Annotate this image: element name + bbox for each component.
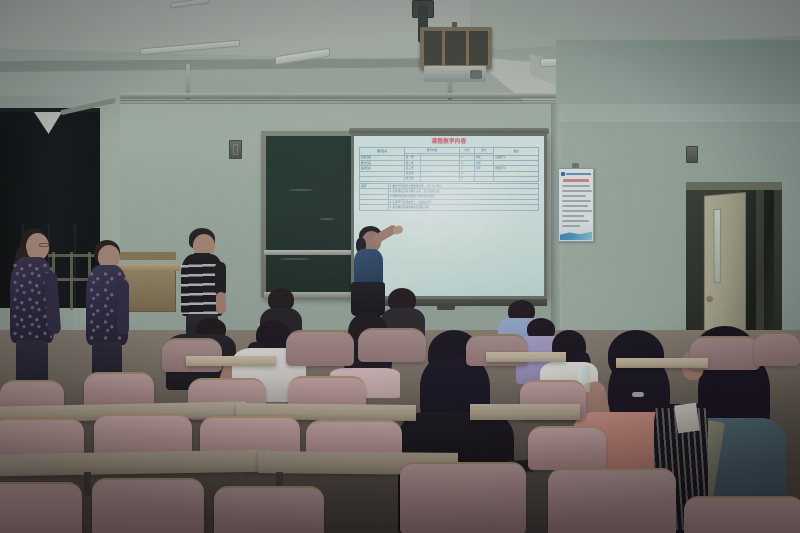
torso bbox=[354, 249, 383, 285]
wall-right-highlight bbox=[556, 104, 800, 122]
lecture-seat[interactable] bbox=[162, 338, 222, 372]
lecture-seat[interactable] bbox=[0, 482, 82, 533]
ceiling-panel-right bbox=[468, 0, 800, 40]
arm bbox=[215, 262, 226, 296]
lecture-seat[interactable] bbox=[286, 330, 354, 366]
glasses-icon bbox=[39, 243, 49, 247]
lecture-desk bbox=[186, 356, 276, 366]
lecture-desk bbox=[470, 404, 580, 420]
poster-title bbox=[563, 179, 589, 182]
lecture-seat[interactable] bbox=[528, 426, 606, 470]
lecture-seat[interactable] bbox=[214, 486, 324, 533]
observer-1 bbox=[6, 228, 66, 393]
wall-speaker-icon bbox=[229, 140, 242, 159]
lecture-seat[interactable] bbox=[92, 478, 204, 533]
paper-sheet[interactable] bbox=[674, 403, 700, 434]
arm-skin bbox=[216, 292, 226, 314]
arm bbox=[117, 280, 129, 335]
lecture-seat[interactable] bbox=[400, 462, 526, 533]
door-glass-panel bbox=[714, 209, 721, 283]
door-knob-icon[interactable] bbox=[707, 296, 713, 302]
desk-leg bbox=[84, 472, 91, 496]
projector-cage bbox=[420, 27, 492, 69]
hair-tie bbox=[632, 392, 644, 397]
classroom-photo: 课程教学内容 课程目标 教学内容 学时 评价 备注 bbox=[0, 0, 800, 533]
wall-notice-board[interactable] bbox=[558, 168, 594, 242]
screen-pull-tab[interactable] bbox=[437, 305, 455, 310]
wall-speaker-icon bbox=[686, 146, 698, 163]
lecture-desk bbox=[486, 352, 566, 362]
lecture-seat[interactable] bbox=[684, 496, 800, 533]
poster-logo-text bbox=[566, 173, 591, 175]
lecture-seat[interactable] bbox=[754, 332, 800, 366]
lecture-seat[interactable] bbox=[358, 328, 426, 362]
lecture-desk bbox=[616, 358, 708, 368]
poster-graphic bbox=[560, 228, 592, 240]
observer-2 bbox=[84, 240, 136, 390]
door-lintel bbox=[686, 182, 782, 190]
institution-logo-icon bbox=[561, 172, 565, 176]
lecture-seat[interactable] bbox=[548, 468, 676, 533]
poster-header bbox=[561, 171, 591, 176]
projector-lens-icon bbox=[470, 70, 482, 79]
